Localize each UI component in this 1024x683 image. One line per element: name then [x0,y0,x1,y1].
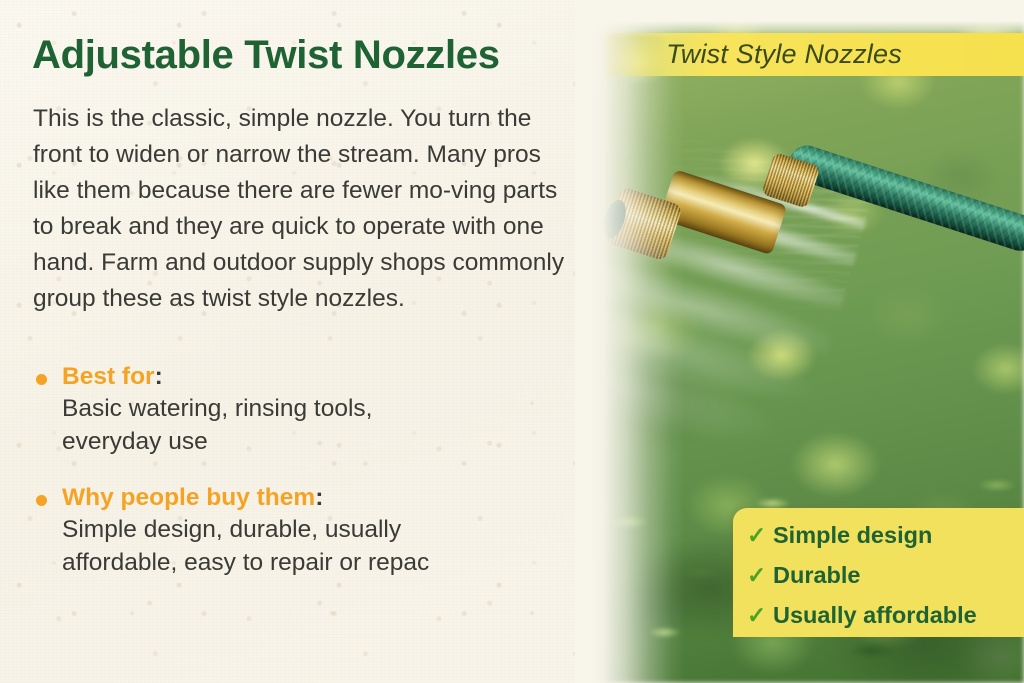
bullet-colon: : [155,363,163,390]
checklist-item-label: Simple design [773,517,932,553]
bullet-heading: Best for: [32,363,572,391]
bullet-list: Best for: Basic watering, rinsing tools,… [32,363,572,605]
check-icon: ✓ [747,564,773,587]
checklist-item-label: Durable [773,557,861,593]
bullet-dot-icon [36,495,47,506]
benefits-checklist-card: ✓ Simple design ✓ Durable ✓ Usually affo… [733,508,1024,637]
text-column: Adjustable Twist Nozzles This is the cla… [32,0,580,683]
bullet-label: Why people buy them: [62,484,323,512]
bullet-body-text: Simple design, durable, usually affordab… [62,513,487,579]
bullet-body-text: Basic watering, rinsing tools, everyday … [62,392,492,458]
check-icon: ✓ [747,524,773,547]
checklist-item: ✓ Usually affordable [747,597,1024,633]
bullet-dot-icon [36,374,47,385]
bullet-label: Best for: [62,363,163,391]
checklist-item: ✓ Durable [747,557,1024,593]
checklist-item-label: Usually affordable [773,597,977,633]
photo-caption-text: Twist Style Nozzles [666,39,958,70]
bullet-item-why-people-buy: Why people buy them: Simple design, dura… [32,484,572,579]
bullet-heading: Why people buy them: [32,484,572,512]
bullet-item-best-for: Best for: Basic watering, rinsing tools,… [32,363,572,458]
slide-root: Twist Style Nozzles Adjustable Twist Noz… [0,0,1024,683]
photo-caption-banner: Twist Style Nozzles [600,33,1024,76]
page-title: Adjustable Twist Nozzles [32,33,500,78]
bullet-colon: : [315,484,323,511]
checklist-item: ✓ Simple design [747,517,1024,553]
intro-paragraph: This is the classic, simple nozzle. You … [33,101,565,317]
check-icon: ✓ [747,604,773,627]
photo-left-fade [575,0,685,683]
